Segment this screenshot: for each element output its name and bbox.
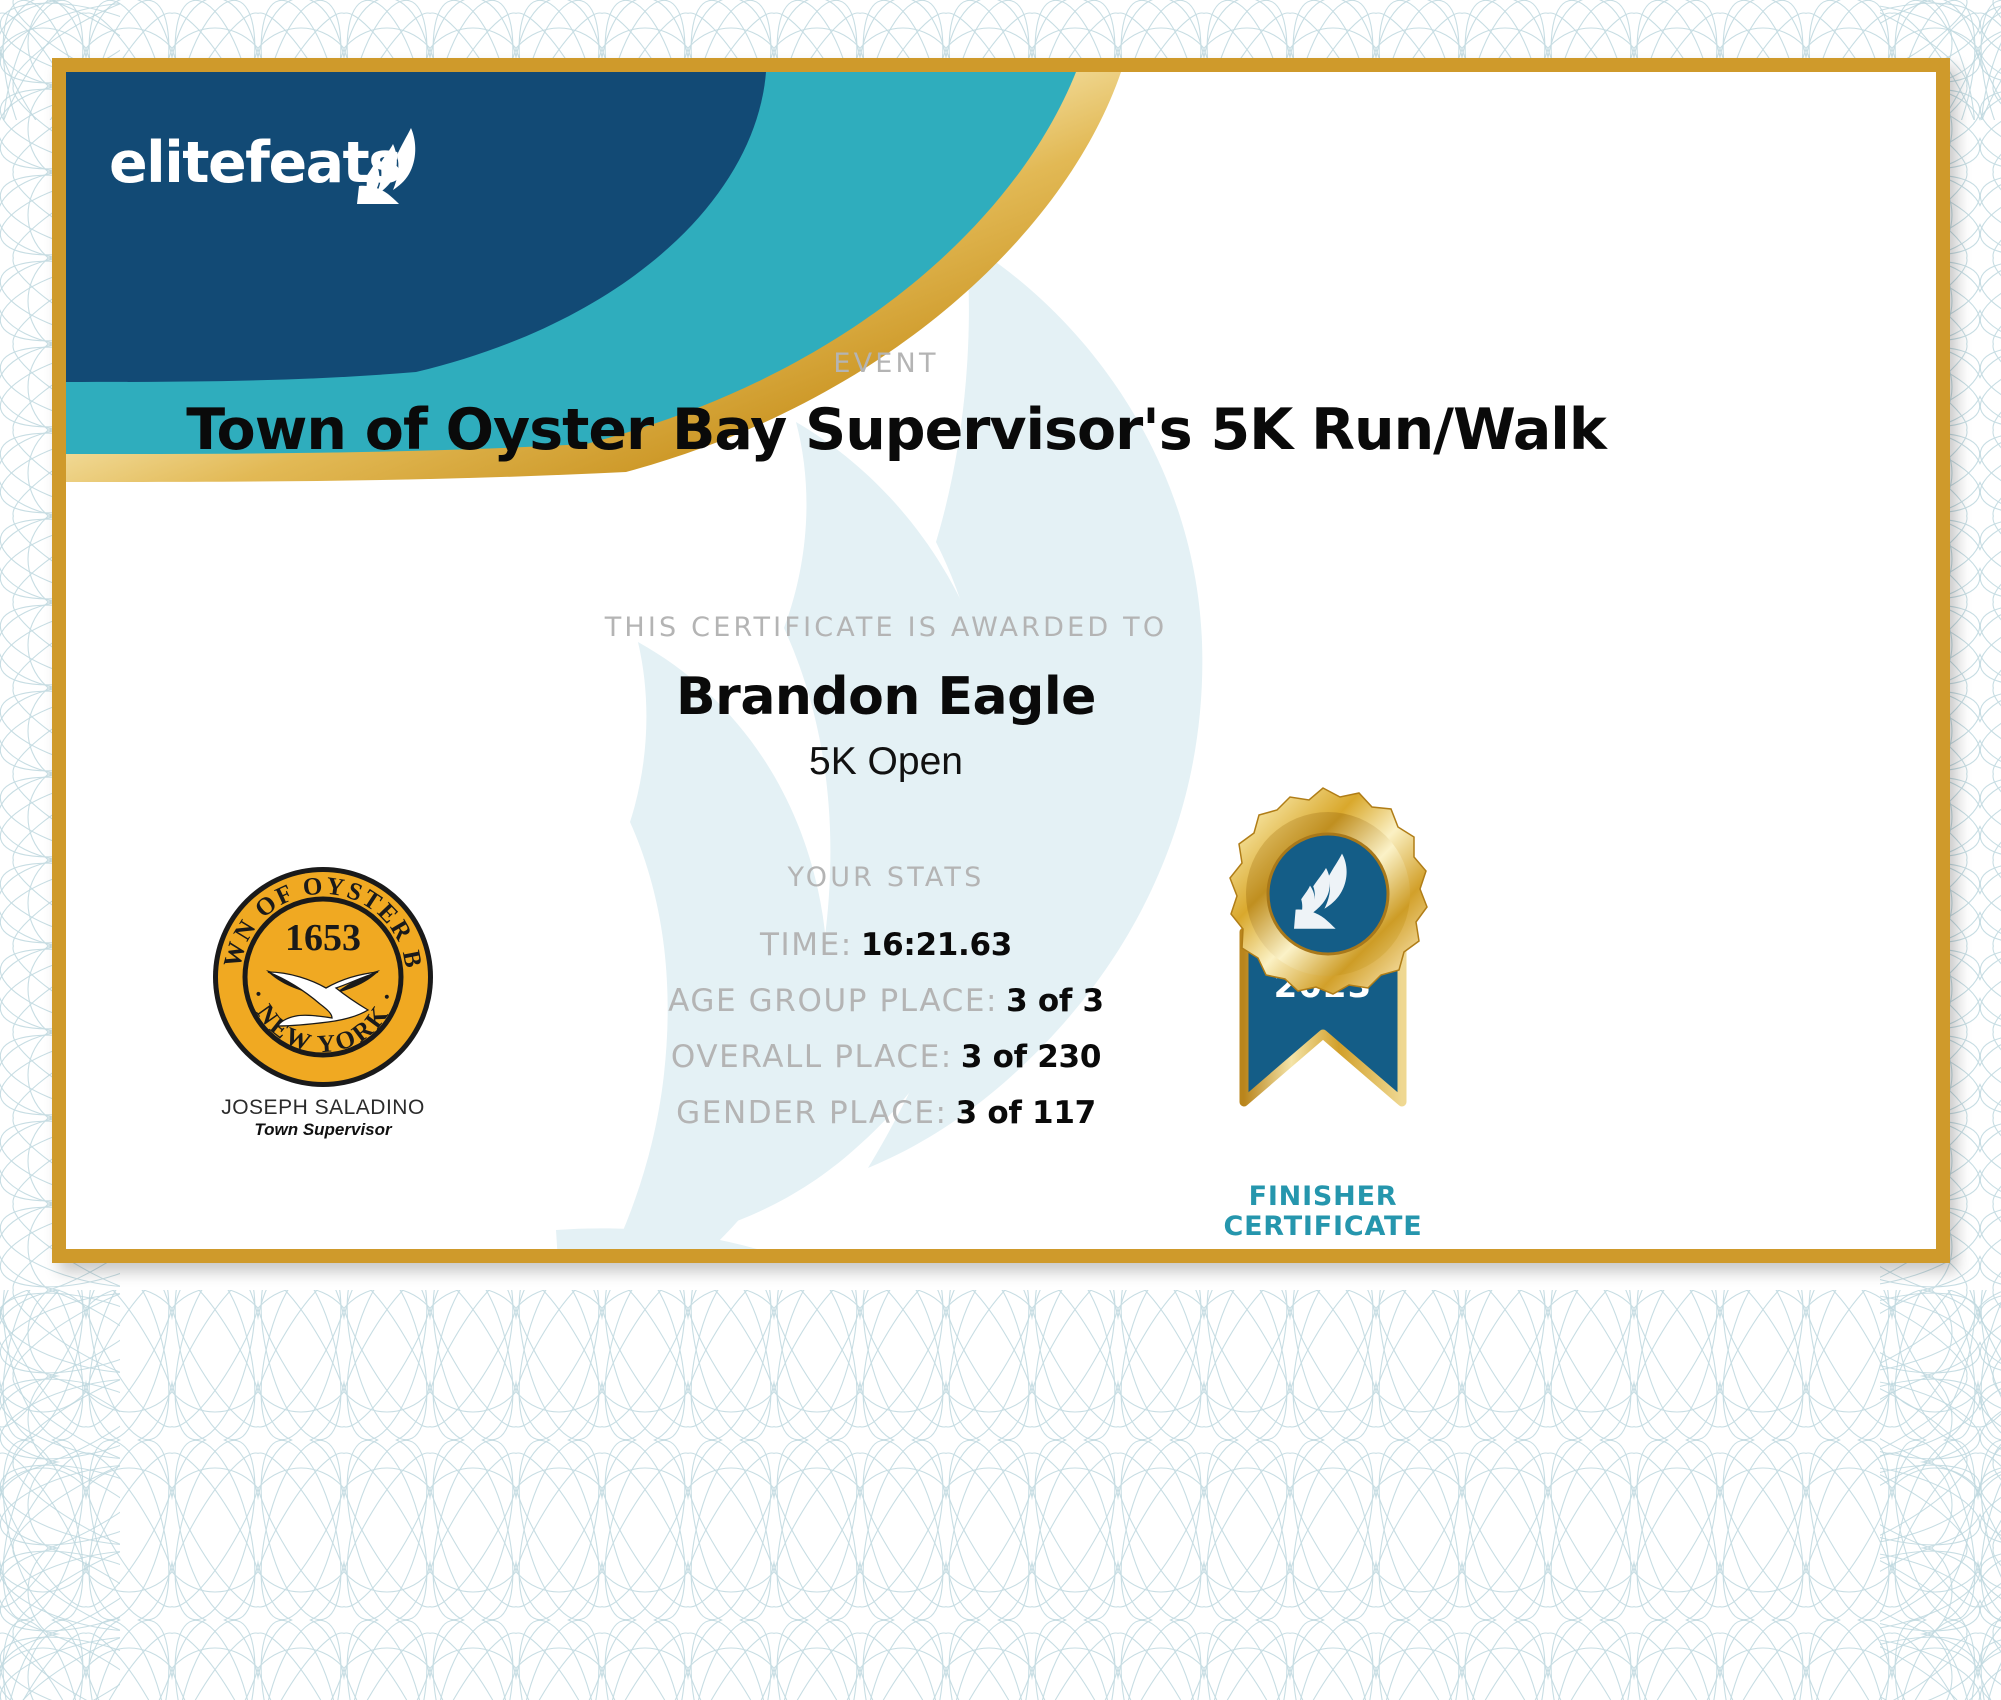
- certificate-page: elitefeats EVENT Town of Oyster Bay Supe…: [0, 0, 2001, 1700]
- stat-label: OVERALL PLACE:: [671, 1039, 953, 1075]
- town-seal-block: TOWN OF OYSTER BAY · NEW YORK · 1653 JOS…: [178, 862, 468, 1140]
- awarded-to-kicker: THIS CERTIFICATE IS AWARDED TO: [216, 612, 1556, 643]
- winged-foot-icon: [355, 126, 425, 204]
- recipient-name: Brandon Eagle: [216, 667, 1556, 727]
- medal-caption-line1: FINISHER: [1178, 1182, 1468, 1212]
- event-kicker: EVENT: [216, 348, 1556, 379]
- division-label: 5K Open: [216, 740, 1556, 784]
- town-of-oyster-bay-seal: TOWN OF OYSTER BAY · NEW YORK · 1653: [208, 862, 438, 1092]
- stat-label: TIME:: [760, 927, 853, 963]
- elitefeats-logo: elitefeats: [109, 122, 429, 212]
- event-title: Town of Oyster Bay Supervisor's 5K Run/W…: [126, 397, 1666, 463]
- stat-label: GENDER PLACE:: [676, 1095, 947, 1131]
- stat-value: 3 of 3: [1006, 983, 1104, 1019]
- signer-name: JOSEPH SALADINO: [178, 1096, 468, 1120]
- certificate-body: elitefeats EVENT Town of Oyster Bay Supe…: [66, 72, 1936, 1249]
- stat-value: 16:21.63: [861, 927, 1012, 963]
- seal-year-text: 1653: [285, 917, 361, 959]
- stat-label: AGE GROUP PLACE:: [668, 983, 998, 1019]
- stat-value: 3 of 117: [956, 1095, 1096, 1131]
- stat-value: 3 of 230: [961, 1039, 1101, 1075]
- finisher-medal-block: 2023 FINISHER CE: [1178, 782, 1468, 1241]
- finisher-medal: 2023: [1198, 782, 1448, 1182]
- certificate-frame: elitefeats EVENT Town of Oyster Bay Supe…: [52, 58, 1950, 1263]
- signer-role: Town Supervisor: [178, 1120, 468, 1140]
- medal-caption-line2: CERTIFICATE: [1178, 1212, 1468, 1242]
